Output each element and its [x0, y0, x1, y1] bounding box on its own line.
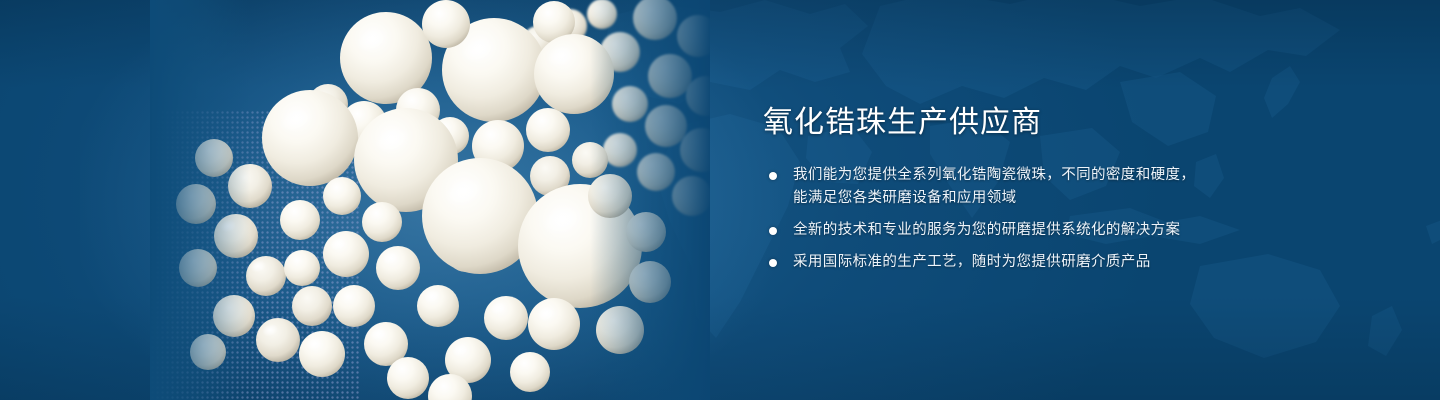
- bullet-dot-icon: [769, 259, 777, 267]
- feature-bullet-line: 全新的技术和专业的服务为您的研磨提供系统化的解决方案: [793, 219, 1363, 242]
- zirconia-beads-image: [150, 0, 710, 400]
- feature-bullet-line: 采用国际标准的生产工艺，随时为您提供研磨介质产品: [793, 251, 1363, 274]
- feature-bullet-line: 我们能为您提供全系列氧化锆陶瓷微珠，不同的密度和硬度，: [793, 164, 1363, 187]
- feature-bullet-line: 能满足您各类研磨设备和应用领域: [793, 187, 1363, 210]
- feature-bullet-list: 我们能为您提供全系列氧化锆陶瓷微珠，不同的密度和硬度， 能满足您各类研磨设备和应…: [763, 164, 1363, 274]
- banner-headline: 氧化锆珠生产供应商: [763, 104, 1363, 142]
- feature-bullet-item: 采用国际标准的生产工艺，随时为您提供研磨介质产品: [763, 251, 1363, 274]
- feature-bullet-item: 我们能为您提供全系列氧化锆陶瓷微珠，不同的密度和硬度， 能满足您各类研磨设备和应…: [763, 164, 1363, 210]
- feature-bullet-item: 全新的技术和专业的服务为您的研磨提供系统化的解决方案: [763, 219, 1363, 242]
- hero-banner: 氧化锆珠生产供应商 我们能为您提供全系列氧化锆陶瓷微珠，不同的密度和硬度， 能满…: [0, 0, 1440, 400]
- bullet-dot-icon: [769, 172, 777, 180]
- bullet-dot-icon: [769, 227, 777, 235]
- banner-copy: 氧化锆珠生产供应商 我们能为您提供全系列氧化锆陶瓷微珠，不同的密度和硬度， 能满…: [763, 104, 1363, 274]
